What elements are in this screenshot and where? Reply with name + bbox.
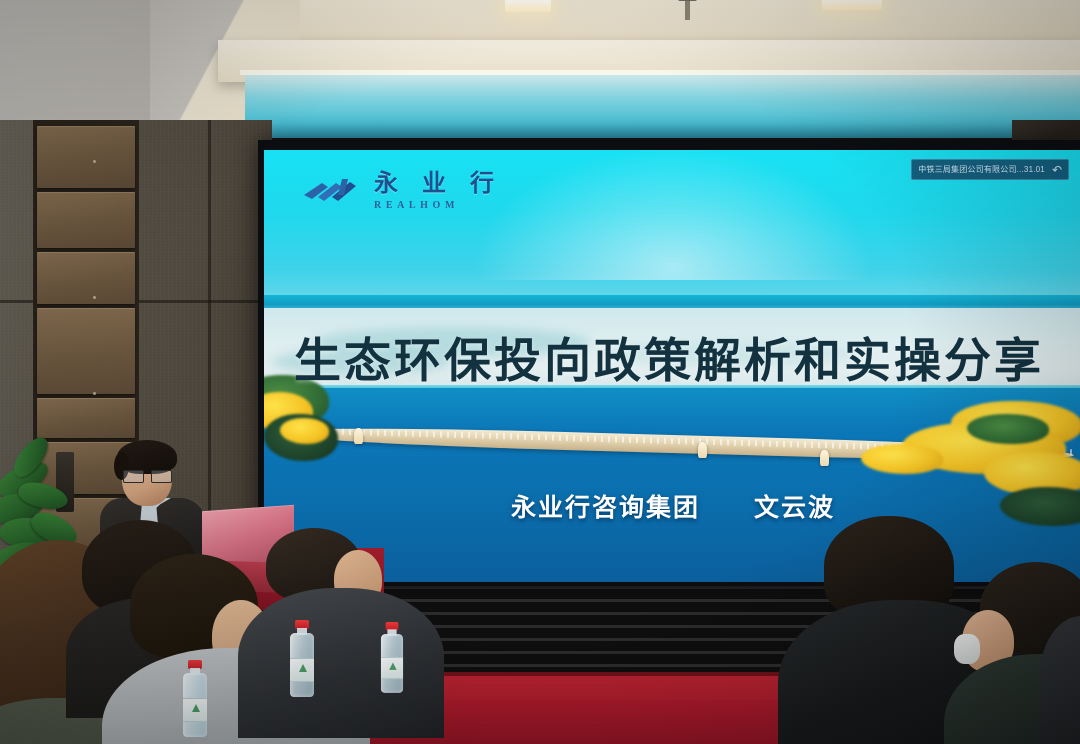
acoustic-wall-panel [37, 192, 135, 248]
slide-foliage [280, 418, 329, 444]
attendee-shoulders [1040, 616, 1080, 744]
sprinkler-head [685, 0, 690, 20]
bridge-pylon [698, 442, 707, 458]
panel-screw [93, 160, 96, 163]
face-mask [954, 634, 980, 664]
return-arrow-icon[interactable]: ↶ [1052, 164, 1062, 176]
ppt-filename-bar[interactable]: 中铁三局集团公司有限公司...31.01 ↶ [911, 159, 1069, 180]
conference-photo-scene: 永 业 行 REALHOM 中铁三局集团公司有限公司...31.01 ↶ 生态环… [0, 0, 1080, 744]
ppt-filename-label: 中铁三局集团公司有限公司...31.01 [918, 164, 1045, 175]
bridge-pylon [354, 428, 363, 444]
realhom-logo-icon [302, 175, 362, 209]
panel-screw [93, 392, 96, 395]
slide-foliage [967, 414, 1049, 444]
acoustic-wall-panel [37, 252, 135, 304]
panel-screw [93, 296, 96, 299]
attendee-far-right [1040, 596, 1080, 744]
slide-foliage [861, 444, 943, 474]
ceiling-light-fixture [505, 0, 551, 12]
logo-chinese: 永 业 行 [374, 172, 503, 196]
bottle-label-mark [192, 704, 200, 712]
ceiling-cove-light [245, 74, 1080, 138]
bottle-label-mark [299, 664, 307, 672]
bottle-label-mark [389, 662, 396, 669]
eyeglasses-icon [123, 470, 170, 481]
attendee-shoulders [238, 588, 444, 738]
ceiling-cove-edge [240, 70, 1080, 75]
ceiling-light-fixture [822, 0, 882, 10]
slide-sky-haze [477, 150, 870, 280]
logo-wordmark: 永 业 行 REALHOM [374, 172, 503, 211]
slide-title: 生态环保投向政策解析和实操分享 [294, 322, 1080, 391]
acoustic-wall-panel [37, 398, 135, 438]
acoustic-wall-panel [37, 126, 135, 188]
logo-english: REALHOM [374, 201, 503, 211]
acoustic-wall-panel [37, 308, 135, 394]
ceiling [0, 0, 1080, 132]
bridge-pylon [820, 450, 829, 466]
attendee-dark-jacket [238, 528, 438, 718]
slide-logo: 永 业 行 REALHOM [302, 172, 503, 211]
